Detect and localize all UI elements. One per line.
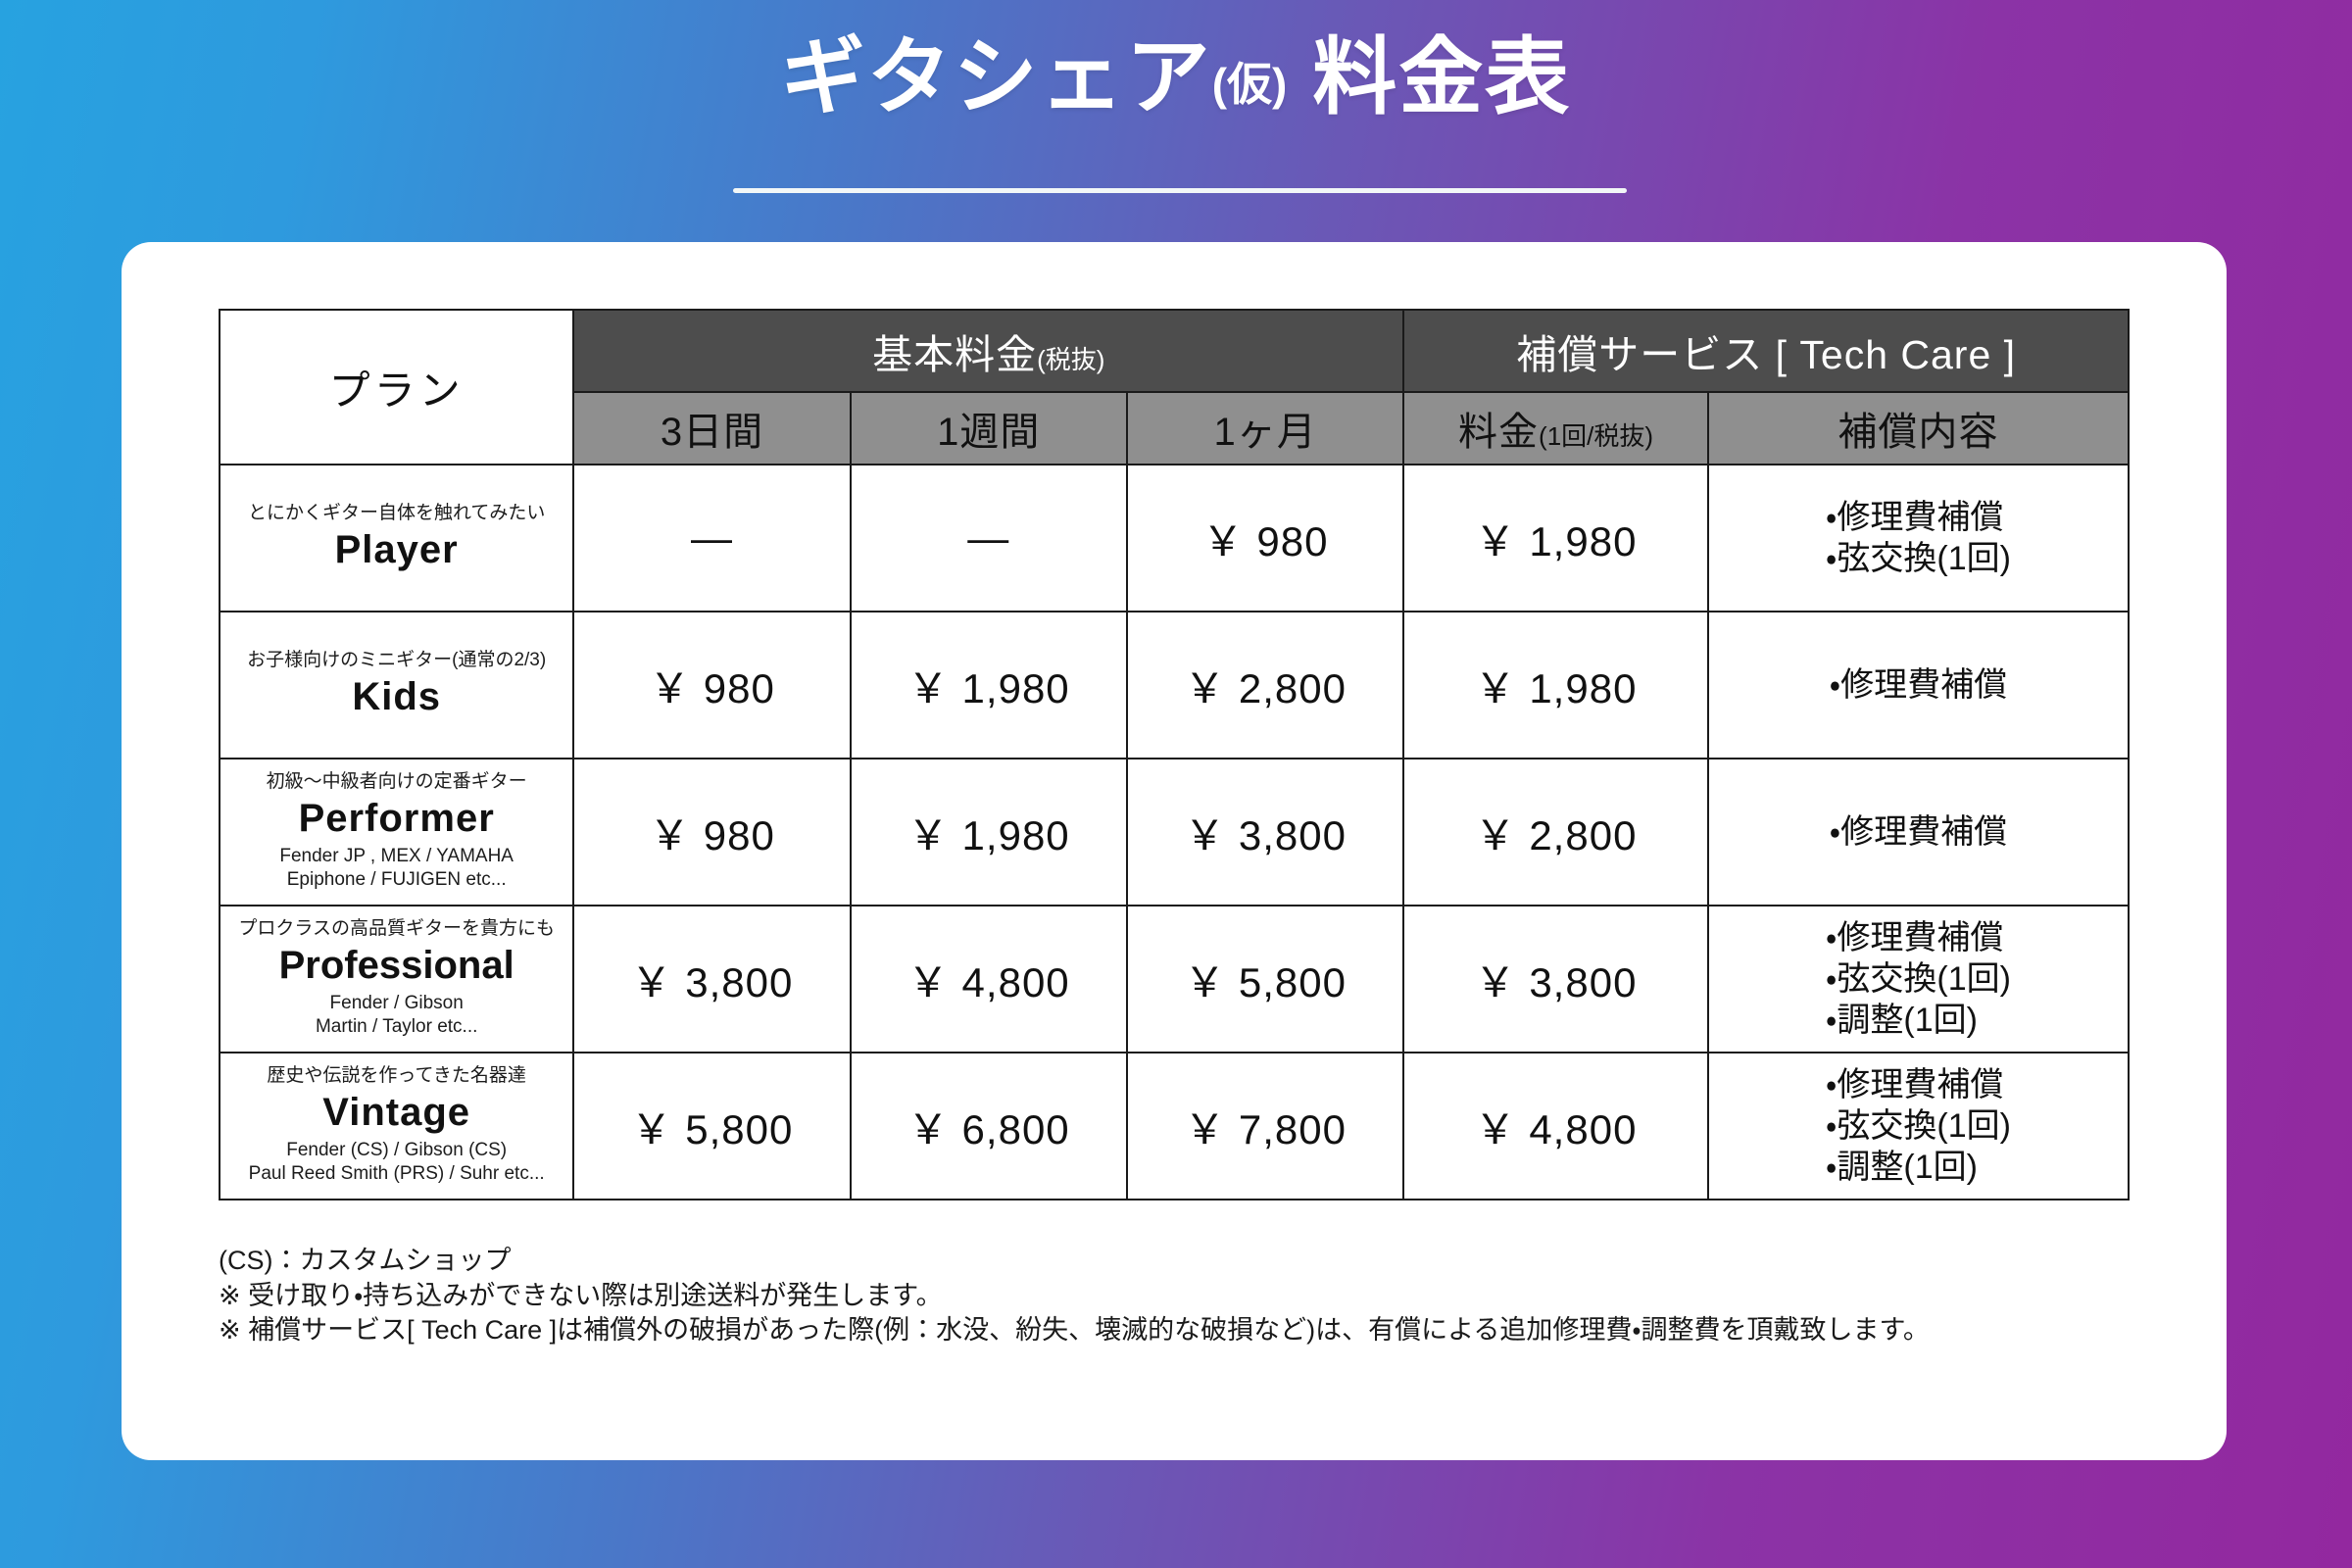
title-underline-rule xyxy=(733,188,1627,193)
coverage-item: ・修理費補償 xyxy=(1826,1064,2011,1105)
table-row: プロクラスの高品質ギターを貴方にもProfessionalFender / Gi… xyxy=(220,906,2129,1053)
column-header-1week: 1週間 xyxy=(851,392,1127,465)
title-block: ギタシェア(仮) 料金表 xyxy=(0,29,2352,126)
coverage-item: ・弦交換(1回) xyxy=(1826,538,2011,579)
plan-cell: 初級〜中級者向けの定番ギターPerformerFender JP , MEX /… xyxy=(220,759,573,906)
coverage-cell: ・修理費補償・弦交換(1回)・調整(1回) xyxy=(1708,906,2129,1053)
column-group-header-base-fee: 基本料金(税抜) xyxy=(573,310,1403,392)
base-fee-label: 基本料金 xyxy=(872,332,1037,377)
table-body: とにかくギター自体を触れてみたいPlayer——￥ 980￥ 1,980・修理費… xyxy=(220,465,2129,1200)
coverage-item: ・弦交換(1回) xyxy=(1826,1105,2011,1147)
techcare-fee-cell: ￥ 1,980 xyxy=(1403,465,1708,612)
page-title: ギタシェア(仮) 料金表 xyxy=(781,29,1572,126)
techcare-fee-cell: ￥ 3,800 xyxy=(1403,906,1708,1053)
coverage-list: ・修理費補償・弦交換(1回)・調整(1回) xyxy=(1826,917,2011,1041)
techcare-fee-label: 料金 xyxy=(1458,411,1539,454)
coverage-item: ・修理費補償 xyxy=(1826,497,2011,538)
techcare-fee-note: (1回/税抜) xyxy=(1539,421,1653,451)
coverage-list: ・修理費補償・弦交換(1回)・調整(1回) xyxy=(1826,1064,2011,1188)
plan-tagline: 歴史や伝説を作ってきた名器達 xyxy=(220,1066,572,1087)
price-cell-3days: — xyxy=(573,465,850,612)
plan-cell: とにかくギター自体を触れてみたいPlayer xyxy=(220,465,573,612)
column-header-coverage: 補償内容 xyxy=(1708,392,2129,465)
coverage-item: ・弦交換(1回) xyxy=(1826,958,2011,1000)
price-cell-3days: ￥ 5,800 xyxy=(573,1053,850,1200)
column-header-1month: 1ヶ月 xyxy=(1127,392,1403,465)
plan-brand-list: Fender JP , MEX / YAMAHAEpiphone / FUJIG… xyxy=(220,845,572,892)
plan-name: Vintage xyxy=(220,1091,572,1135)
page-title-part-1: ギタシェア xyxy=(781,30,1212,124)
plan-name: Player xyxy=(220,528,572,572)
plan-tagline: プロクラスの高品質ギターを貴方にも xyxy=(220,919,572,940)
price-cell-1month: ￥ 2,800 xyxy=(1127,612,1403,759)
coverage-list: ・修理費補償 xyxy=(1830,664,2008,706)
table-head: プラン 基本料金(税抜) 補償サービス [ Tech Care ] 3日間 1週… xyxy=(220,310,2129,465)
footnotes-block: (CS)：カスタムショップ※ 受け取り・持ち込みができない際は別途送料が発生しま… xyxy=(219,1244,2179,1348)
content-card: プラン 基本料金(税抜) 補償サービス [ Tech Care ] 3日間 1週… xyxy=(122,242,2227,1460)
price-cell-1week: ￥ 6,800 xyxy=(851,1053,1127,1200)
table-row: 歴史や伝説を作ってきた名器達VintageFender (CS) / Gibso… xyxy=(220,1053,2129,1200)
price-cell-1week: — xyxy=(851,465,1127,612)
coverage-cell: ・修理費補償・弦交換(1回)・調整(1回) xyxy=(1708,1053,2129,1200)
coverage-item: ・修理費補償 xyxy=(1830,811,2008,853)
footnote-line: ※ 受け取り・持ち込みができない際は別途送料が発生します。 xyxy=(219,1279,2179,1314)
table-row: お子様向けのミニギター(通常の2/3)Kids￥ 980￥ 1,980￥ 2,8… xyxy=(220,612,2129,759)
coverage-cell: ・修理費補償 xyxy=(1708,612,2129,759)
plan-tagline: 初級〜中級者向けの定番ギター xyxy=(220,772,572,793)
price-cell-1week: ￥ 1,980 xyxy=(851,759,1127,906)
price-cell-1week: ￥ 1,980 xyxy=(851,612,1127,759)
column-header-3days: 3日間 xyxy=(573,392,850,465)
footnote-line: ※ 補償サービス[ Tech Care ]は補償外の破損があった際(例：水没、紛… xyxy=(219,1313,2179,1348)
table-row: とにかくギター自体を触れてみたいPlayer——￥ 980￥ 1,980・修理費… xyxy=(220,465,2129,612)
footnote-line: (CS)：カスタムショップ xyxy=(219,1244,2179,1279)
price-cell-3days: ￥ 3,800 xyxy=(573,906,850,1053)
table-row: 初級〜中級者向けの定番ギターPerformerFender JP , MEX /… xyxy=(220,759,2129,906)
coverage-list: ・修理費補償 xyxy=(1830,811,2008,853)
techcare-fee-cell: ￥ 1,980 xyxy=(1403,612,1708,759)
plan-brand-list: Fender / GibsonMartin / Taylor etc... xyxy=(220,992,572,1039)
coverage-list: ・修理費補償・弦交換(1回) xyxy=(1826,497,2011,579)
price-cell-1month: ￥ 7,800 xyxy=(1127,1053,1403,1200)
plan-cell: プロクラスの高品質ギターを貴方にもProfessionalFender / Gi… xyxy=(220,906,573,1053)
price-cell-1month: ￥ 5,800 xyxy=(1127,906,1403,1053)
price-cell-1month: ￥ 980 xyxy=(1127,465,1403,612)
techcare-fee-cell: ￥ 2,800 xyxy=(1403,759,1708,906)
table-head-row-group: プラン 基本料金(税抜) 補償サービス [ Tech Care ] xyxy=(220,310,2129,392)
techcare-fee-cell: ￥ 4,800 xyxy=(1403,1053,1708,1200)
plan-cell: お子様向けのミニギター(通常の2/3)Kids xyxy=(220,612,573,759)
plan-tagline: とにかくギター自体を触れてみたい xyxy=(220,504,572,524)
plan-cell: 歴史や伝説を作ってきた名器達VintageFender (CS) / Gibso… xyxy=(220,1053,573,1200)
price-cell-3days: ￥ 980 xyxy=(573,612,850,759)
coverage-item: ・修理費補償 xyxy=(1830,664,2008,706)
coverage-item: ・修理費補償 xyxy=(1826,917,2011,958)
pricing-table: プラン 基本料金(税抜) 補償サービス [ Tech Care ] 3日間 1週… xyxy=(219,309,2130,1200)
plan-name: Kids xyxy=(220,675,572,719)
plan-brand-list: Fender (CS) / Gibson (CS)Paul Reed Smith… xyxy=(220,1139,572,1186)
coverage-item: ・調整(1回) xyxy=(1826,1000,2011,1041)
coverage-item: ・調整(1回) xyxy=(1826,1147,2011,1188)
coverage-cell: ・修理費補償 xyxy=(1708,759,2129,906)
plan-name: Performer xyxy=(220,797,572,841)
price-cell-3days: ￥ 980 xyxy=(573,759,850,906)
price-cell-1week: ￥ 4,800 xyxy=(851,906,1127,1053)
page-title-part-2: 料金表 xyxy=(1287,30,1571,124)
column-group-header-tech-care: 補償サービス [ Tech Care ] xyxy=(1403,310,2129,392)
price-cell-1month: ￥ 3,800 xyxy=(1127,759,1403,906)
coverage-cell: ・修理費補償・弦交換(1回) xyxy=(1708,465,2129,612)
page-title-paren: (仮) xyxy=(1212,59,1288,110)
column-header-techcare-fee: 料金(1回/税抜) xyxy=(1403,392,1708,465)
base-fee-tax-note: (税抜) xyxy=(1037,345,1104,374)
column-header-plan: プラン xyxy=(220,310,573,465)
plan-name: Professional xyxy=(220,944,572,988)
poster-canvas: ギタシェア(仮) 料金表 プラン 基本料金(税抜) 補償サービス [ Tech … xyxy=(0,0,2352,1568)
plan-tagline: お子様向けのミニギター(通常の2/3) xyxy=(220,651,572,671)
